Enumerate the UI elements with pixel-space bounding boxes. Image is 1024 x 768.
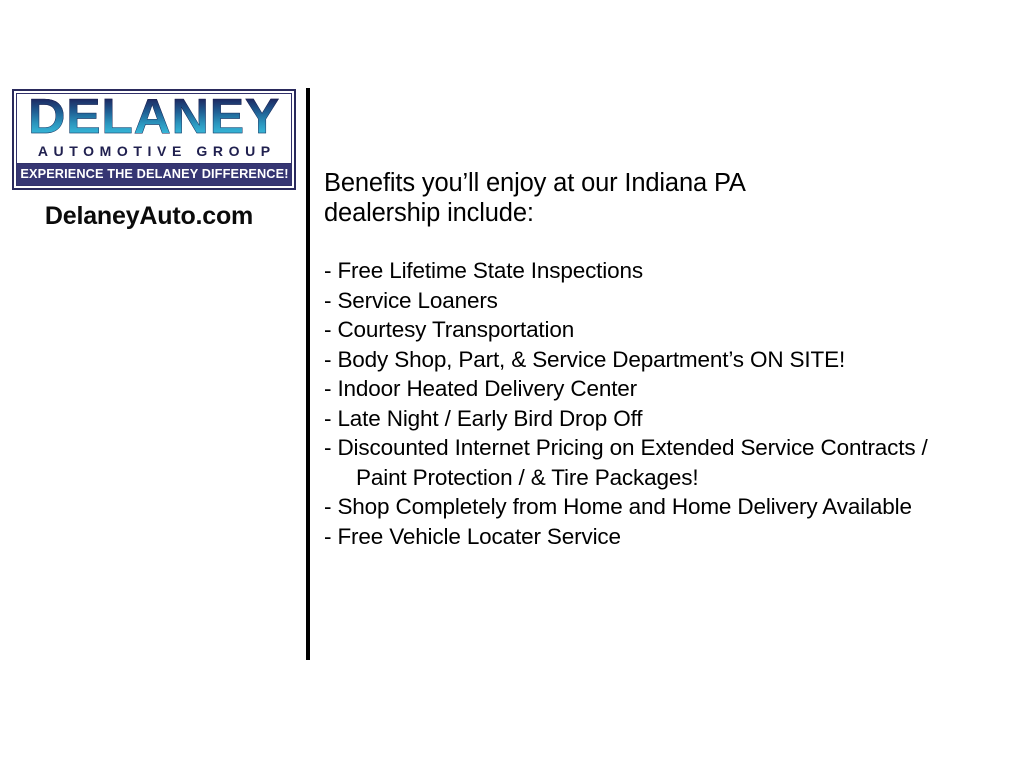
benefit-item-text: - Free Lifetime State Inspections	[324, 258, 643, 283]
benefit-item-text: - Free Vehicle Locater Service	[324, 524, 621, 549]
benefit-list-item: - Free Lifetime State Inspections	[324, 256, 1014, 286]
brand-column: DELANEY AUTOMOTIVE GROUP EXPERIENCE THE …	[0, 0, 298, 768]
benefit-item-text: - Late Night / Early Bird Drop Off	[324, 406, 642, 431]
logo-subwordmark-zone: AUTOMOTIVE GROUP	[17, 143, 291, 164]
benefit-item-text: - Service Loaners	[324, 288, 498, 313]
benefit-list-item: - Shop Completely from Home and Home Del…	[324, 492, 1014, 522]
benefit-list-item: - Discounted Internet Pricing on Extende…	[324, 433, 1014, 492]
benefit-list-item: - Service Loaners	[324, 286, 1014, 316]
benefit-item-text: - Courtesy Transportation	[324, 317, 574, 342]
page-title: Benefits you’ll enjoy at our Indiana PA …	[324, 168, 864, 228]
benefit-item-text: - Discounted Internet Pricing on Extende…	[324, 435, 928, 460]
benefit-list-item: - Body Shop, Part, & Service Department’…	[324, 345, 1014, 375]
vertical-divider	[306, 88, 310, 660]
benefit-item-text: - Body Shop, Part, & Service Department’…	[324, 347, 845, 372]
logo-tagline-bar: EXPERIENCE THE DELANEY DIFFERENCE!	[17, 164, 291, 185]
delaney-automotive-group-logo: DELANEY AUTOMOTIVE GROUP EXPERIENCE THE …	[12, 89, 296, 190]
logo-wordmark-delaney: DELANEY	[17, 94, 291, 143]
logo-wordmark-zone: DELANEY	[17, 94, 291, 143]
benefit-list-item: - Late Night / Early Bird Drop Off	[324, 404, 1014, 434]
logo-subwordmark-automotive-group: AUTOMOTIVE GROUP	[17, 143, 291, 160]
benefit-item-continuation: Paint Protection / & Tire Packages!	[324, 463, 1014, 493]
site-url-text: DelaneyAuto.com	[0, 201, 298, 231]
benefit-list-item: - Courtesy Transportation	[324, 315, 1014, 345]
benefit-list-item: - Indoor Heated Delivery Center	[324, 374, 1014, 404]
logo-tagline-text: EXPERIENCE THE DELANEY DIFFERENCE!	[20, 168, 288, 181]
benefits-content: Benefits you’ll enjoy at our Indiana PA …	[324, 168, 1014, 551]
benefit-item-text: - Indoor Heated Delivery Center	[324, 376, 637, 401]
benefit-item-text: - Shop Completely from Home and Home Del…	[324, 494, 912, 519]
benefit-list-item: - Free Vehicle Locater Service	[324, 522, 1014, 552]
logo-inner-frame: DELANEY AUTOMOTIVE GROUP EXPERIENCE THE …	[16, 93, 292, 186]
benefits-list: - Free Lifetime State Inspections- Servi…	[324, 256, 1014, 551]
